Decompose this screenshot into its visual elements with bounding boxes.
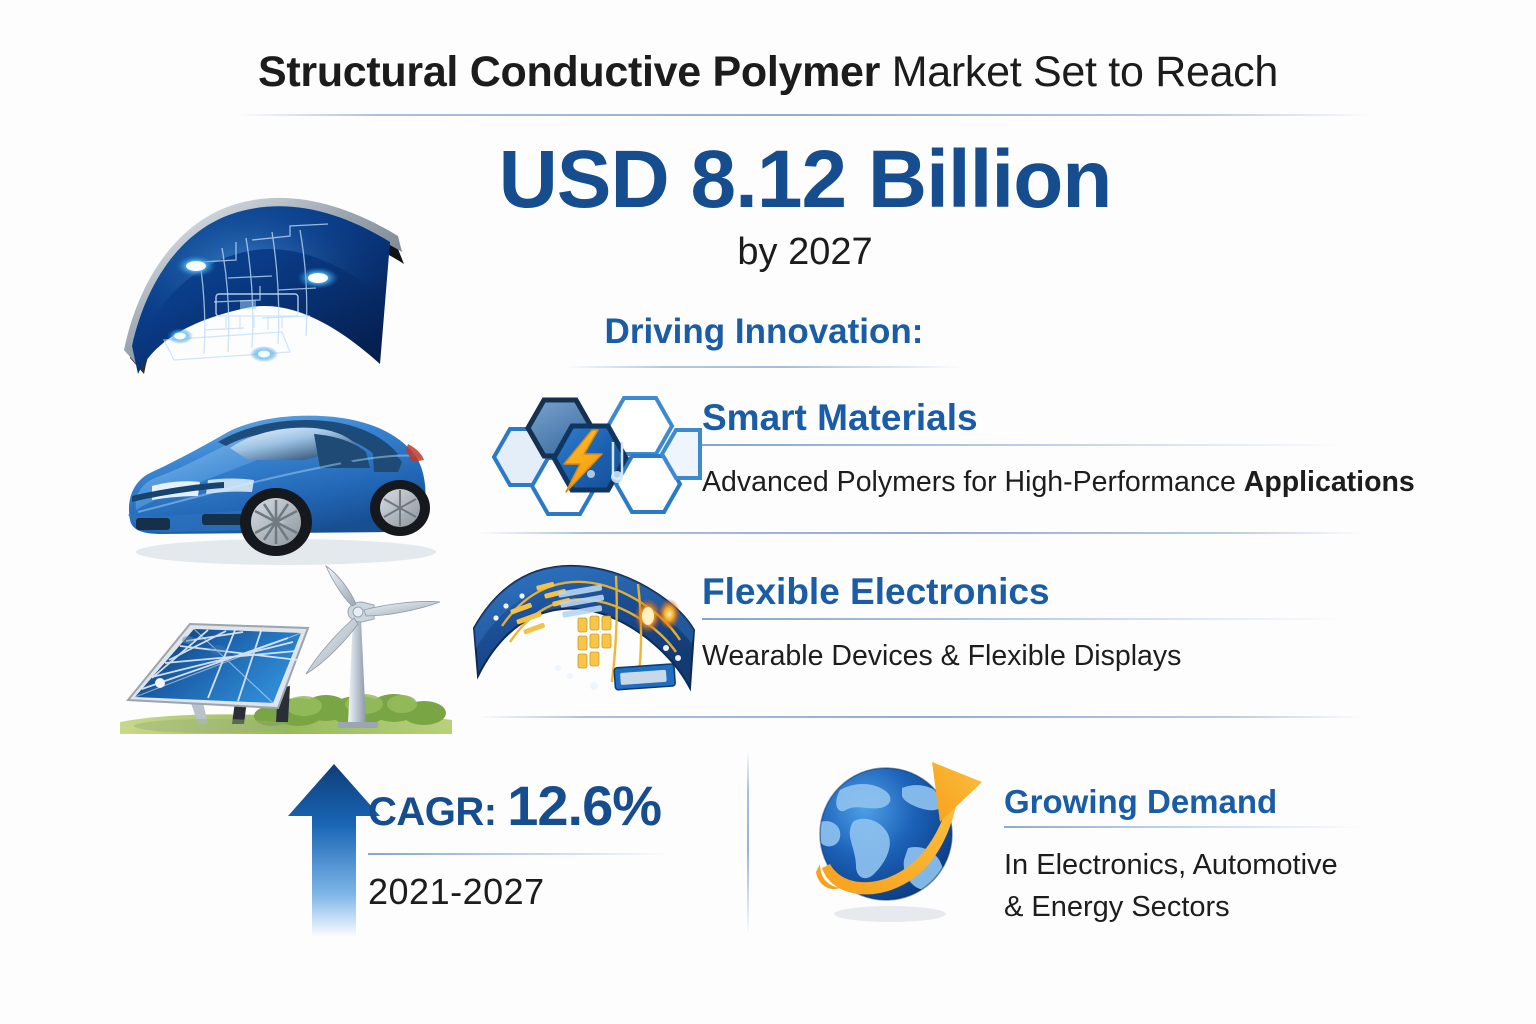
- growing-demand-desc-line1: In Electronics, Automotive: [1004, 844, 1360, 886]
- driving-innovation-divider: [566, 366, 962, 368]
- growing-demand-underline: [1004, 826, 1360, 828]
- growing-demand-text: Growing Demand In Electronics, Automotiv…: [988, 752, 1360, 928]
- bottom-vertical-divider: [747, 752, 749, 932]
- smart-materials-underline: [702, 444, 1342, 446]
- cagr-label: CAGR:: [368, 790, 507, 834]
- hexagon-lightning-icon: [466, 382, 702, 532]
- cagr-underline: [368, 853, 668, 855]
- flexible-display-panel-image: [104, 178, 434, 403]
- cagr-text: CAGR: 12.6% 2021-2027: [368, 776, 704, 913]
- flexible-electronics-description: Wearable Devices & Flexible Displays: [702, 638, 1342, 674]
- driving-innovation-title: Driving Innovation:: [566, 312, 962, 352]
- section-divider-mid: [480, 532, 1360, 534]
- cagr-headline: CAGR: 12.6%: [368, 776, 704, 851]
- flexible-electronics-text: Flexible Electronics Wearable Devices & …: [702, 556, 1342, 674]
- cagr-period: 2021-2027: [368, 871, 704, 913]
- smart-materials-description: Advanced Polymers for High-Performance A…: [702, 464, 1415, 500]
- page-title-light: Market Set to Reach: [880, 48, 1278, 96]
- infographic-canvas: Structural Conductive Polymer Market Set…: [0, 0, 1536, 1024]
- feature-flexible-electronics: Flexible Electronics Wearable Devices & …: [466, 556, 1342, 706]
- feature-smart-materials: Smart Materials Advanced Polymers for Hi…: [466, 382, 1415, 532]
- flexible-electronics-heading: Flexible Electronics: [702, 570, 1342, 614]
- page-title: Structural Conductive Polymer Market Set…: [0, 44, 1536, 100]
- blue-sedan-car-image: [108, 398, 448, 578]
- smart-materials-desc-bold: Applications: [1244, 466, 1415, 498]
- growing-demand-desc-line2: & Energy Sectors: [1004, 886, 1360, 928]
- smart-materials-heading: Smart Materials: [702, 396, 1415, 440]
- growing-demand-block: Growing Demand In Electronics, Automotiv…: [798, 752, 1360, 932]
- cagr-value: 12.6%: [507, 774, 661, 837]
- flexible-circuit-icon: [466, 556, 702, 706]
- globe-growth-arrow-icon: [798, 752, 988, 932]
- smart-materials-text: Smart Materials Advanced Polymers for Hi…: [702, 382, 1415, 500]
- smart-materials-desc-normal: Advanced Polymers for High-Performance: [702, 466, 1244, 498]
- cagr-block: CAGR: 12.6% 2021-2027: [278, 756, 708, 936]
- growing-demand-heading: Growing Demand: [1004, 782, 1360, 822]
- page-title-bold: Structural Conductive Polymer: [258, 48, 880, 96]
- growing-demand-description: In Electronics, Automotive & Energy Sect…: [1004, 844, 1360, 928]
- flexible-electronics-underline: [702, 618, 1342, 620]
- solar-panel-wind-turbine-image: [112, 572, 457, 747]
- section-divider-bottom: [480, 716, 1360, 718]
- title-divider: [240, 114, 1370, 116]
